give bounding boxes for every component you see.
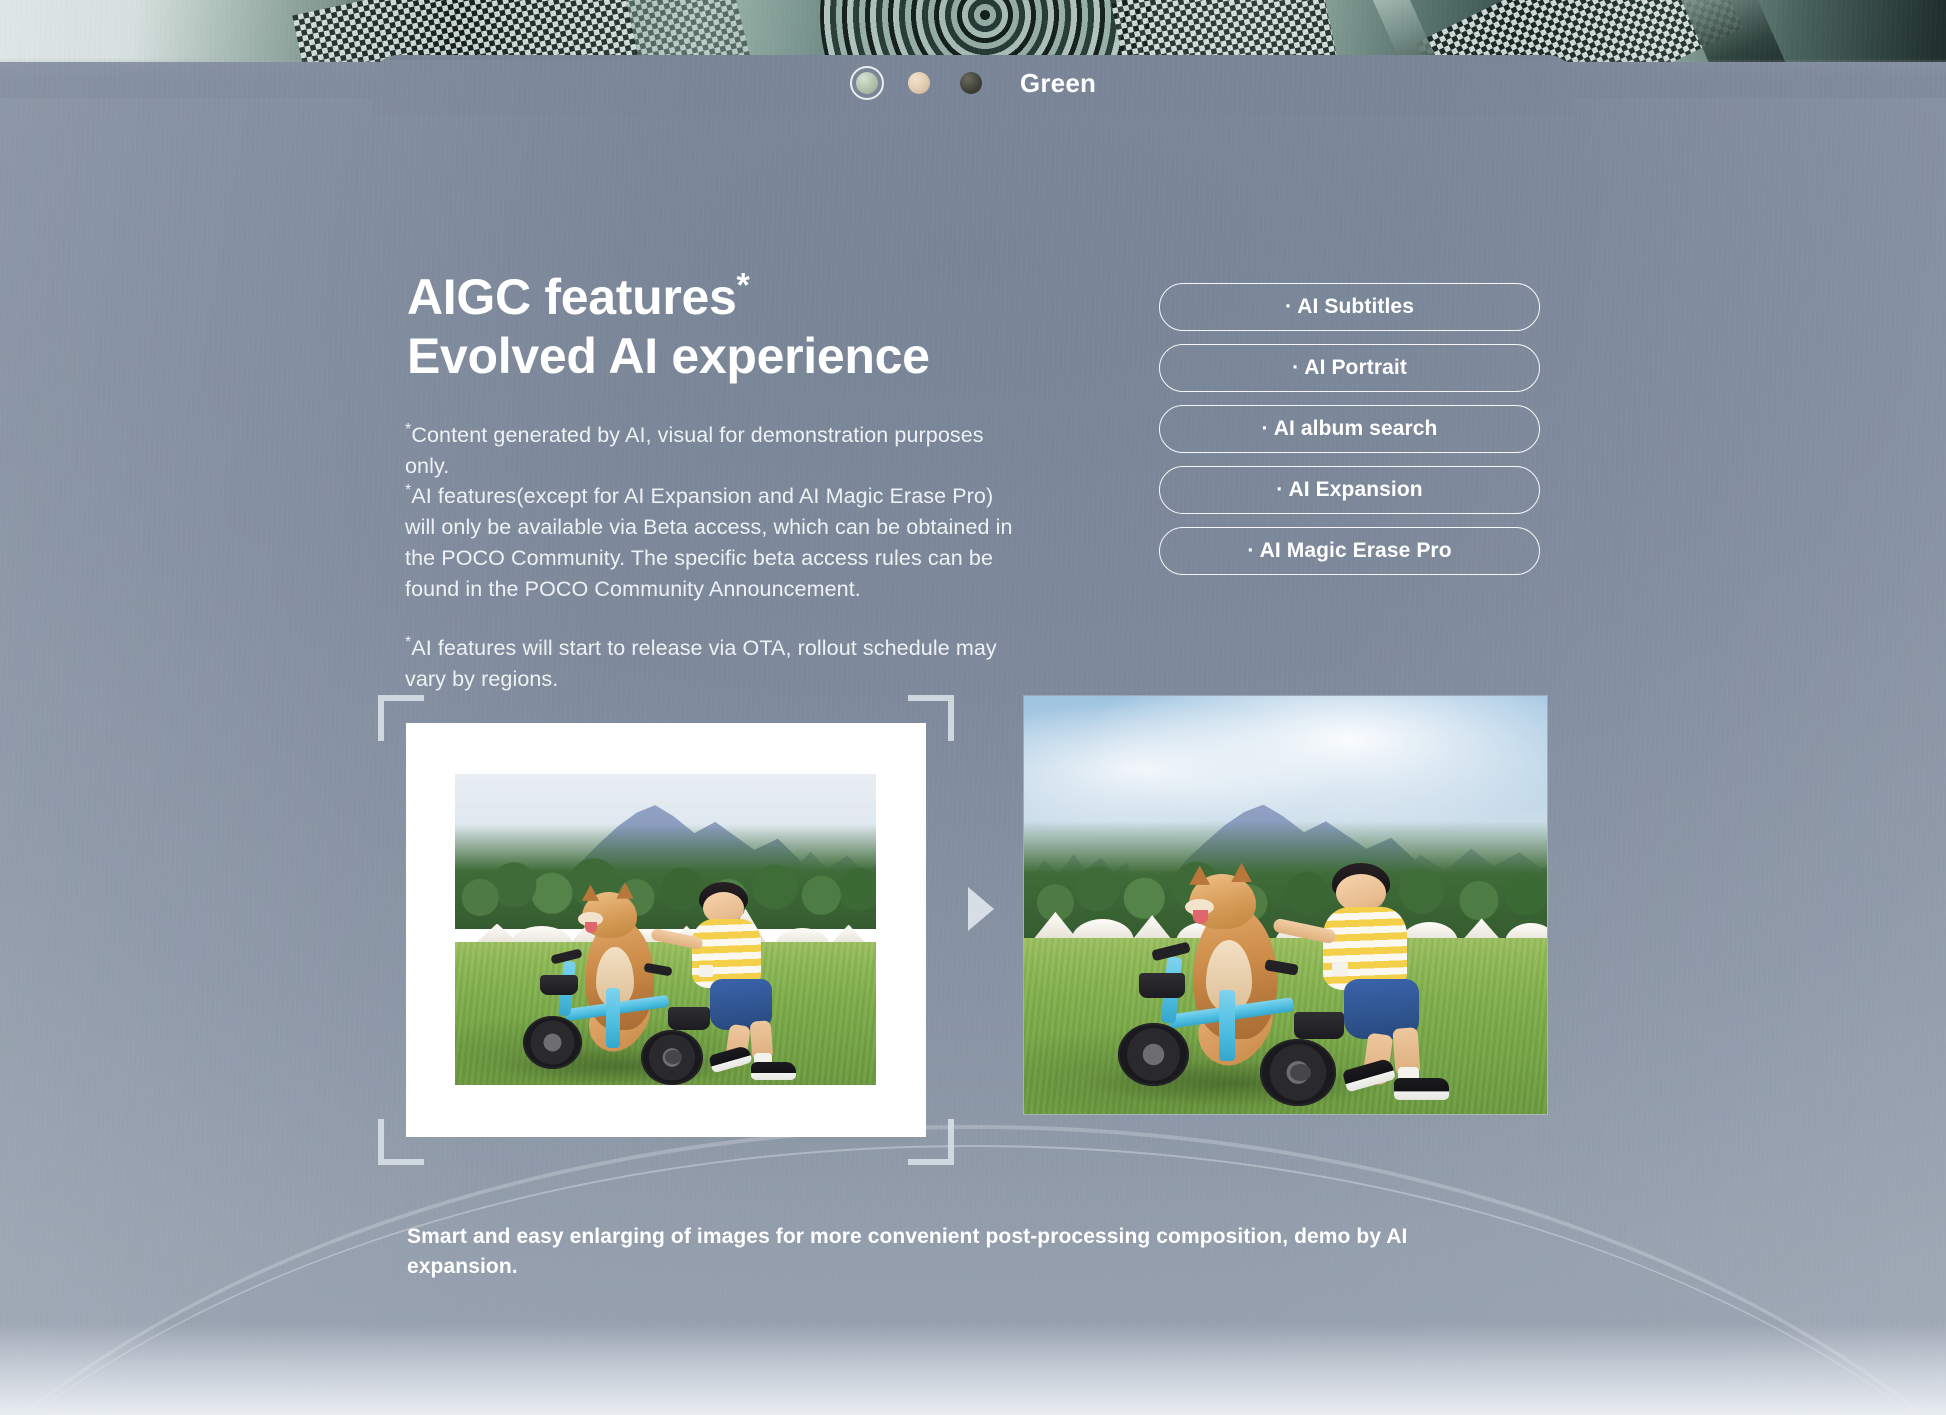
trike-frame-post — [606, 988, 620, 1048]
feature-list: · AI Subtitles · AI Portrait · AI album … — [1159, 283, 1540, 575]
headline-line-1: AIGC features — [407, 269, 737, 325]
feature-pill-ai-portrait[interactable]: · AI Portrait — [1159, 344, 1540, 392]
comparison-caption: Smart and easy enlarging of images for m… — [407, 1222, 1522, 1282]
before-image-frame — [378, 695, 954, 1165]
trike-front-wheel — [523, 1016, 582, 1069]
boy-shoe — [751, 1062, 796, 1080]
photo-subject — [489, 855, 834, 1085]
disclaimer-paragraph-1: *Content generated by AI, visual for dem… — [405, 420, 1025, 482]
feature-pill-ai-expansion[interactable]: · AI Expansion — [1159, 466, 1540, 514]
green-swatch-dot — [856, 72, 878, 94]
white-photo-card — [406, 723, 926, 1137]
disclaimer-text-2: AI features(except for AI Expansion and … — [405, 484, 1013, 601]
main-content: AIGC features* Evolved AI experience *Co… — [0, 0, 1946, 1415]
boy-shirt — [692, 919, 761, 988]
after-photo — [1023, 695, 1548, 1115]
feature-pill-ai-album-search[interactable]: · AI album search — [1159, 405, 1540, 453]
trike-rear-basket — [668, 1007, 709, 1030]
boy-shirt-tag — [1332, 962, 1349, 976]
dog-ear — [616, 882, 633, 898]
boy-shirt — [1323, 907, 1407, 990]
dog-ear — [582, 885, 599, 901]
disclaimer-text-1: Content generated by AI, visual for demo… — [405, 423, 984, 478]
dog-ear — [1231, 863, 1252, 882]
selected-color-name: Green — [1020, 68, 1096, 99]
page-title: AIGC features* Evolved AI experience — [407, 268, 930, 385]
color-swatch-green[interactable] — [850, 66, 884, 100]
boy-shirt-tag — [699, 965, 713, 977]
color-swatch-black[interactable] — [954, 66, 988, 100]
boy-shoe — [1394, 1078, 1448, 1100]
black-swatch-dot — [960, 72, 982, 94]
feature-pill-ai-magic-erase-pro[interactable]: · AI Magic Erase Pro — [1159, 527, 1540, 575]
trike-rear-basket — [1294, 1012, 1344, 1040]
disclaimer-text-3: AI features will start to release via OT… — [405, 636, 997, 691]
trike-front-basket — [540, 975, 578, 996]
feature-pill-ai-subtitles[interactable]: · AI Subtitles — [1159, 283, 1540, 331]
trike-front-basket — [1139, 973, 1185, 998]
trike-front-wheel — [1118, 1023, 1189, 1086]
color-swatch-beige[interactable] — [902, 66, 936, 100]
dog-tongue — [1193, 910, 1208, 924]
before-photo — [455, 774, 876, 1085]
headline-line-2: Evolved AI experience — [407, 328, 930, 384]
color-selector[interactable]: Green — [0, 66, 1946, 100]
dog-ear — [1189, 866, 1210, 885]
disclaimer-paragraph-3: *AI features will start to release via O… — [405, 633, 1025, 695]
photo-subject — [1076, 830, 1494, 1106]
arrow-right-icon — [968, 887, 994, 931]
disclaimer-paragraph-2: *AI features(except for AI Expansion and… — [405, 481, 1025, 605]
trike-frame-post — [1219, 990, 1236, 1062]
beige-swatch-dot — [908, 72, 930, 94]
headline-asterisk: * — [737, 266, 750, 304]
trike-wheel-hub — [1290, 1064, 1311, 1081]
